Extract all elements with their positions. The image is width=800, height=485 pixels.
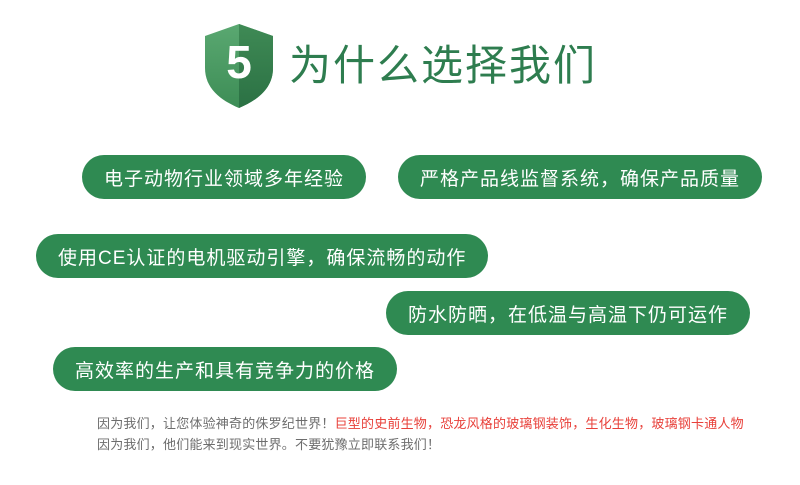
footer-line-2: 因为我们，他们能来到现实世界。不要犹豫立即联系我们！ [97, 434, 797, 455]
shield-badge: 5 [203, 22, 275, 110]
feature-pill: 使用CE认证的电机驱动引擎，确保流畅的动作 [36, 234, 488, 278]
footer-line-1-accent: 巨型的史前生物，恐龙风格的玻璃钢装饰，生化生物，玻璃钢卡通人物 [335, 416, 744, 431]
footer-line-1-prefix: 因为我们，让您体验神奇的侏罗纪世界！ [97, 416, 335, 431]
feature-pill: 高效率的生产和具有竞争力的价格 [53, 347, 397, 391]
promo-banner: 5 为什么选择我们 电子动物行业领域多年经验 严格产品线监督系统，确保产品质量 … [0, 0, 800, 485]
page-title: 为什么选择我们 [289, 45, 597, 87]
feature-pill: 电子动物行业领域多年经验 [82, 155, 366, 199]
footer-text: 因为我们，让您体验神奇的侏罗纪世界！巨型的史前生物，恐龙风格的玻璃钢装饰，生化生… [97, 413, 797, 455]
feature-pill: 严格产品线监督系统，确保产品质量 [398, 155, 762, 199]
badge-number: 5 [203, 22, 275, 110]
footer-line-1: 因为我们，让您体验神奇的侏罗纪世界！巨型的史前生物，恐龙风格的玻璃钢装饰，生化生… [97, 413, 797, 434]
header: 5 为什么选择我们 [0, 22, 800, 110]
feature-pill: 防水防晒，在低温与高温下仍可运作 [386, 291, 750, 335]
